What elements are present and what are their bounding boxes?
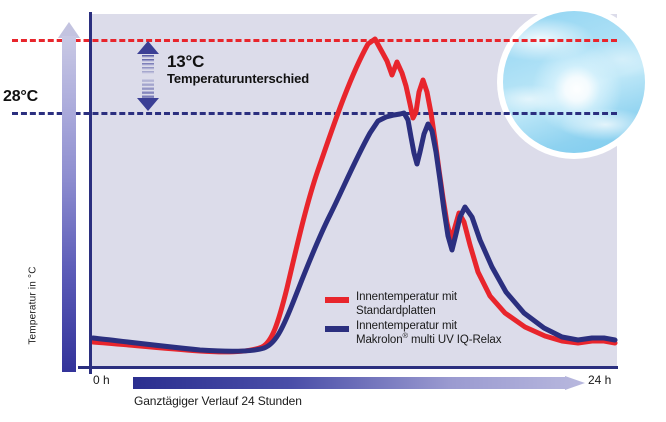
sun-sky-disc [503, 11, 645, 153]
legend-label-product: Makrolon [356, 334, 403, 346]
y-axis-label: Temperatur in °C [28, 251, 39, 361]
lower-reference-label: 28°C [3, 88, 38, 106]
chart-legend: Innentemperatur mit Standardplatten Inne… [325, 291, 501, 349]
legend-label-line-2: Makrolon® multi UV IQ-Relax [356, 334, 501, 348]
difference-caption: Temperaturunterschied [167, 71, 309, 87]
legend-label-line-1: Innentemperatur mit [356, 320, 501, 334]
x-tick-label-0h: 0 h [93, 373, 110, 387]
temperature-gradient-arrow [58, 22, 80, 372]
time-gradient-arrow [133, 376, 585, 390]
difference-double-arrow-icon [135, 41, 161, 111]
legend-swatch-blue-icon [325, 326, 349, 332]
legend-item-makrolon: Innentemperatur mit Makrolon® multi UV I… [325, 320, 501, 347]
x-tick-label-24h: 24 h [588, 373, 611, 387]
difference-value: 13°C [167, 52, 309, 71]
legend-label-product-suffix: multi UV IQ-Relax [408, 334, 501, 346]
legend-swatch-red-icon [325, 297, 349, 303]
sun-sky-photo [497, 5, 651, 159]
x-axis-line [78, 366, 618, 369]
legend-item-standardplatten: Innentemperatur mit Standardplatten [325, 291, 501, 318]
legend-label-makrolon: Innentemperatur mit Makrolon® multi UV I… [356, 320, 501, 347]
legend-label-line-2: Standardplatten [356, 305, 457, 319]
x-axis-tick-0h [89, 358, 92, 374]
legend-label-line-1: Innentemperatur mit [356, 291, 457, 305]
y-axis-line [89, 12, 92, 374]
difference-annotation: 13°C Temperaturunterschied [167, 52, 309, 87]
legend-label-standardplatten: Innentemperatur mit Standardplatten [356, 291, 457, 318]
reference-line-lower [12, 112, 617, 115]
x-axis-caption: Ganztägiger Verlauf 24 Stunden [134, 394, 302, 408]
temperature-arrow-shaft [62, 36, 76, 372]
reference-line-upper [12, 39, 617, 42]
chart-figure: Temperatur in °C 28°C [0, 0, 666, 422]
